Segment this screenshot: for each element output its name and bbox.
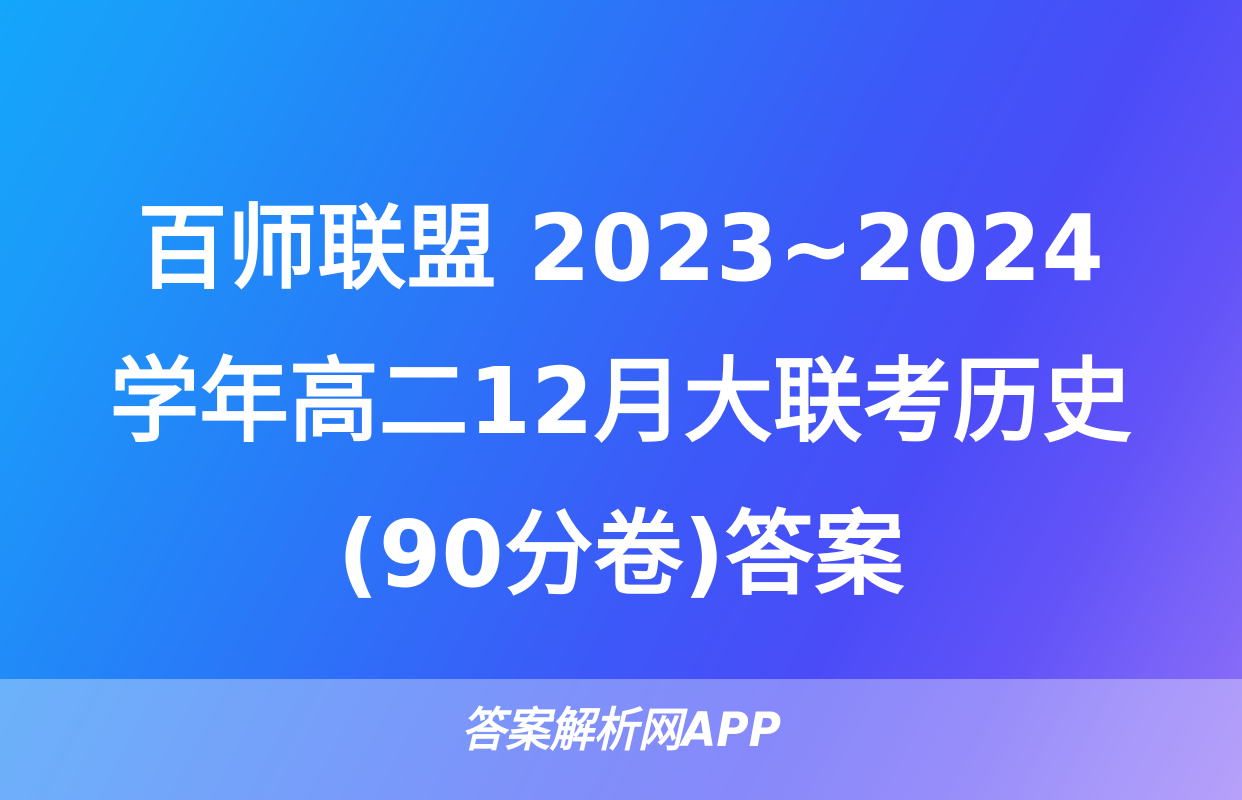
- page-title: 百师联盟 2023~2024学年高二12月大联考历史(90分卷)答案: [94, 172, 1147, 631]
- poster-title-block: 百师联盟 2023~2024学年高二12月大联考历史(90分卷)答案: [0, 172, 1242, 631]
- app-watermark-label: 答案解析网APP: [461, 703, 781, 759]
- poster-canvas: 百师联盟 2023~2024学年高二12月大联考历史(90分卷)答案 答案解析网…: [0, 0, 1242, 800]
- poster-watermark-block: 答案解析网APP: [0, 703, 1242, 759]
